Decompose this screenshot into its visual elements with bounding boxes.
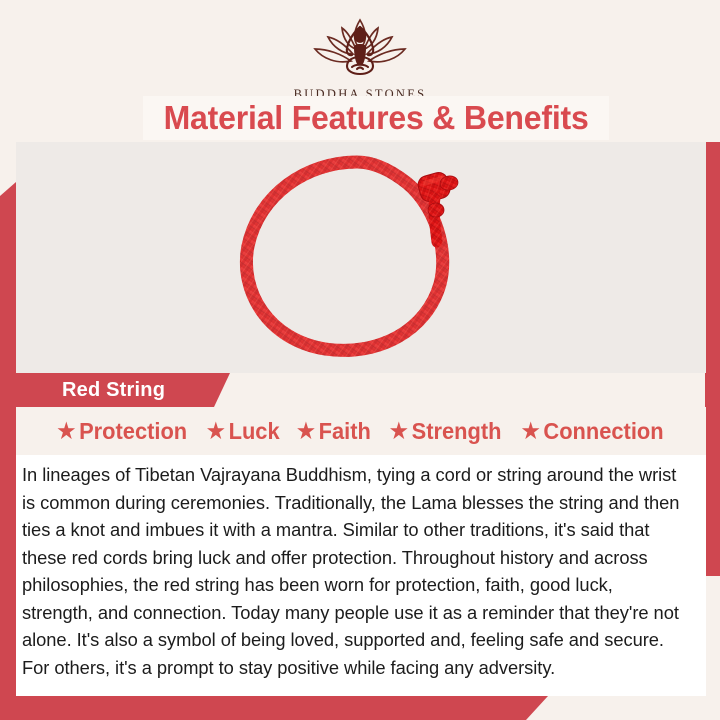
lotus-meditation-icon bbox=[295, 14, 425, 86]
benefit-label: Protection bbox=[79, 418, 187, 445]
brand-logo: BUDDHA STONES bbox=[0, 14, 720, 102]
infographic-card: BUDDHA STONES Material Features & Benefi… bbox=[0, 0, 720, 720]
star-icon: ★ bbox=[207, 421, 225, 442]
decorative-band-bottom bbox=[0, 696, 548, 720]
decorative-band-left bbox=[0, 182, 16, 696]
benefit-item-strength: ★ Strength bbox=[383, 418, 508, 445]
benefit-label: Luck bbox=[228, 418, 279, 445]
header: BUDDHA STONES Material Features & Benefi… bbox=[0, 0, 720, 142]
benefit-item-connection: ★ Connection bbox=[516, 418, 671, 445]
description-text: In lineages of Tibetan Vajrayana Buddhis… bbox=[22, 461, 682, 681]
product-image-area bbox=[16, 142, 706, 373]
title-band: Material Features & Benefits bbox=[143, 96, 609, 140]
page-title: Material Features & Benefits bbox=[163, 99, 588, 137]
star-icon: ★ bbox=[522, 421, 540, 442]
benefit-label: Strength bbox=[412, 418, 502, 445]
product-image bbox=[16, 142, 706, 373]
benefit-item-faith: ★ Faith bbox=[291, 418, 378, 445]
product-label: Red String bbox=[62, 379, 165, 402]
star-icon: ★ bbox=[297, 421, 315, 442]
benefit-label: Connection bbox=[544, 418, 664, 445]
red-string-bracelet-illustration bbox=[221, 150, 501, 365]
star-icon: ★ bbox=[390, 421, 408, 442]
description-box: In lineages of Tibetan Vajrayana Buddhis… bbox=[16, 455, 706, 696]
star-icon: ★ bbox=[58, 421, 76, 442]
benefit-item-protection: ★ Protection bbox=[51, 418, 194, 445]
benefits-row: ★ Protection ★ Luck ★ Faith ★ Strength ★… bbox=[16, 407, 706, 455]
benefit-item-luck: ★ Luck bbox=[200, 418, 286, 445]
product-label-banner: Red String bbox=[0, 373, 230, 407]
benefit-label: Faith bbox=[319, 418, 371, 445]
